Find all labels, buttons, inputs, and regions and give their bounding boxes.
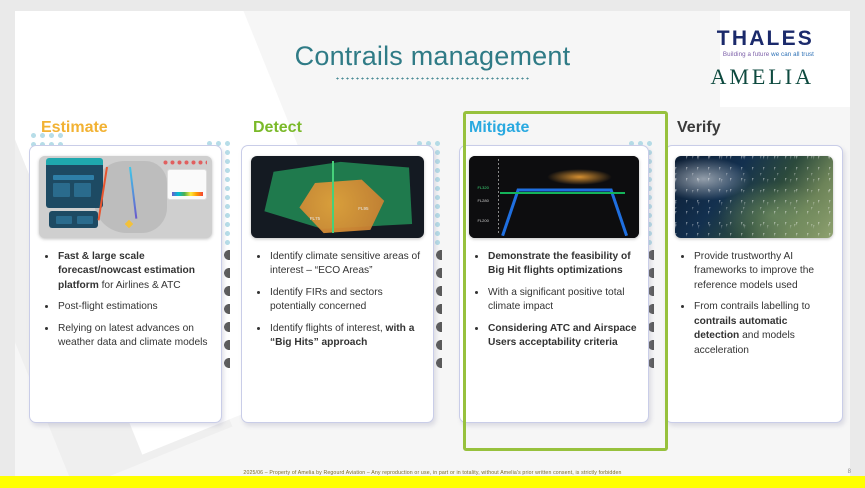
bullet-text: Identify FIRs and sectors potentially co… xyxy=(270,287,383,312)
satellite-contrails-imagery-thumbnail[interactable] xyxy=(675,156,833,238)
list-item: Identify climate sensitive areas of inte… xyxy=(255,250,422,279)
list-item: From contrails labelling to contrails au… xyxy=(679,300,831,358)
eco-areas-sector-map-thumbnail[interactable]: FL75 FL95 xyxy=(251,156,424,238)
bullet-text: for Airlines & ATC xyxy=(102,280,181,291)
pillar-detect-heading: Detect xyxy=(253,119,434,137)
pillar-estimate-heading: Estimate xyxy=(41,119,222,137)
title-underline-dots xyxy=(335,77,531,80)
thales-tagline-part-a: Building a future xyxy=(723,51,769,58)
list-item: Identify flights of interest, with a “Bi… xyxy=(255,322,422,351)
thales-tagline: Building a future we can all trust xyxy=(717,52,814,58)
bullet-text: Identify flights of interest, xyxy=(270,323,386,334)
pillar-verify-card[interactable]: Provide trustworthy AI frameworks to imp… xyxy=(665,145,843,423)
pillar-estimate-bullets: Fast & large scale forecast/nowcast esti… xyxy=(39,250,212,351)
detect-thumb-label-fl2: FL95 xyxy=(358,206,368,211)
pillar-estimate-card[interactable]: Fast & large scale forecast/nowcast esti… xyxy=(29,145,222,423)
thales-logo: THALES Building a future we can all trus… xyxy=(717,28,814,58)
list-item: Identify FIRs and sectors potentially co… xyxy=(255,286,422,315)
thales-wordmark: THALES xyxy=(717,28,814,49)
footer-accent-bar xyxy=(0,476,865,488)
bullet-text: Relying on latest advances on weather da… xyxy=(58,323,208,348)
pillars-container: Estimate xyxy=(15,119,850,459)
pillar-estimate[interactable]: Estimate xyxy=(29,119,222,423)
bullet-text: Identify climate sensitive areas of inte… xyxy=(270,251,420,276)
logo-panel xyxy=(720,11,850,107)
thales-tagline-part-b: we can all trust xyxy=(771,51,814,58)
footer-copyright: 2025/06 – Property of Amelia by Regourd … xyxy=(0,470,865,476)
amelia-logo: AMELIA xyxy=(710,66,814,88)
mitigate-highlight-frame xyxy=(463,111,668,451)
pillar-detect-bullets: Identify climate sensitive areas of inte… xyxy=(251,250,424,351)
slide-canvas: THALES Building a future we can all trus… xyxy=(15,11,850,477)
bullet-text: From contrails labelling to xyxy=(694,301,810,312)
pillar-verify-bullets: Provide trustworthy AI frameworks to imp… xyxy=(675,250,833,358)
list-item: Provide trustworthy AI frameworks to imp… xyxy=(679,250,831,293)
slide-root: THALES Building a future we can all trus… xyxy=(0,0,865,488)
bullet-text: Post-flight estimations xyxy=(58,301,158,312)
list-item: Fast & large scale forecast/nowcast esti… xyxy=(43,250,210,293)
list-item: Relying on latest advances on weather da… xyxy=(43,322,210,351)
pillar-detect[interactable]: Detect FL75 FL95 Identify climate sensit… xyxy=(241,119,434,423)
list-item: Post-flight estimations xyxy=(43,300,210,314)
pillar-detect-card[interactable]: FL75 FL95 Identify climate sensitive are… xyxy=(241,145,434,423)
detect-thumb-label-fl1: FL75 xyxy=(310,216,320,221)
pillar-verify-heading: Verify xyxy=(677,119,850,137)
page-number: 8 xyxy=(848,469,851,475)
pillar-verify[interactable]: Verify Provide trustworthy AI frameworks… xyxy=(665,119,850,423)
bullet-text: Provide trustworthy AI frameworks to imp… xyxy=(694,251,814,291)
flight-planning-map-thumbnail[interactable] xyxy=(39,156,212,238)
